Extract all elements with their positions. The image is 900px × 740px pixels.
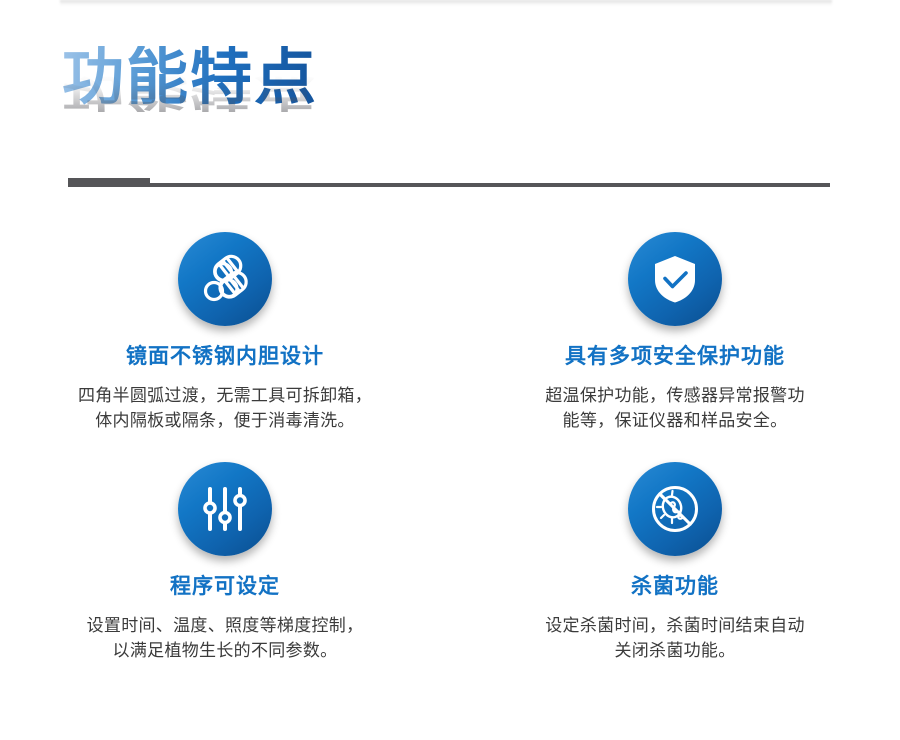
- feature-title: 具有多项安全保护功能: [565, 344, 785, 369]
- feature-description: 设置时间、温度、照度等梯度控制， 以满足植物生长的不同参数。: [87, 614, 364, 664]
- divider-thin-segment: [150, 183, 830, 187]
- feature-description: 设定杀菌时间，杀菌时间结束自动 关闭杀菌功能。: [545, 614, 805, 664]
- feature-title: 程序可设定: [170, 574, 280, 599]
- feature-description: 四角半圆弧过渡，无需工具可拆卸箱， 体内隔板或隔条，便于消毒清洗。: [78, 384, 372, 434]
- feature-grid: 镜面不锈钢内胆设计 四角半圆弧过渡，无需工具可拆卸箱， 体内隔板或隔条，便于消毒…: [0, 232, 900, 692]
- shield-check-icon: [628, 232, 722, 326]
- feature-description-line: 关闭杀菌功能。: [545, 639, 805, 664]
- feature-description-line: 以满足植物生长的不同参数。: [87, 639, 364, 664]
- feature-description-line: 体内隔板或隔条，便于消毒清洗。: [78, 409, 372, 434]
- divider-thick-segment: [68, 178, 150, 187]
- feature-description-line: 四角半圆弧过渡，无需工具可拆卸箱，: [78, 384, 372, 409]
- page-title-text: 功能特点: [62, 46, 318, 108]
- no-bacteria-icon: [628, 462, 722, 556]
- feature-description-line: 能等，保证仪器和样品安全。: [545, 409, 805, 434]
- feature-description-line: 设置时间、温度、照度等梯度控制，: [87, 614, 364, 639]
- feature-item: 杀菌功能 设定杀菌时间，杀菌时间结束自动 关闭杀菌功能。: [450, 462, 900, 692]
- feature-description: 超温保护功能，传感器异常报警功 能等，保证仪器和样品安全。: [545, 384, 805, 434]
- feature-title: 镜面不锈钢内胆设计: [126, 344, 324, 369]
- section-divider: [68, 178, 830, 187]
- page-title: 功能特点 功能特点: [62, 46, 562, 166]
- feature-title: 杀菌功能: [631, 574, 719, 599]
- feature-item: 程序可设定 设置时间、温度、照度等梯度控制， 以满足植物生长的不同参数。: [0, 462, 450, 692]
- feature-item: 镜面不锈钢内胆设计 四角半圆弧过渡，无需工具可拆卸箱， 体内隔板或隔条，便于消毒…: [0, 232, 450, 462]
- sliders-icon: [178, 462, 272, 556]
- section-top-shadow: [60, 0, 832, 6]
- feature-description-line: 超温保护功能，传感器异常报警功: [545, 384, 805, 409]
- feature-description-line: 设定杀菌时间，杀菌时间结束自动: [545, 614, 805, 639]
- feature-item: 具有多项安全保护功能 超温保护功能，传感器异常报警功 能等，保证仪器和样品安全。: [450, 232, 900, 462]
- steel-tubes-icon: [178, 232, 272, 326]
